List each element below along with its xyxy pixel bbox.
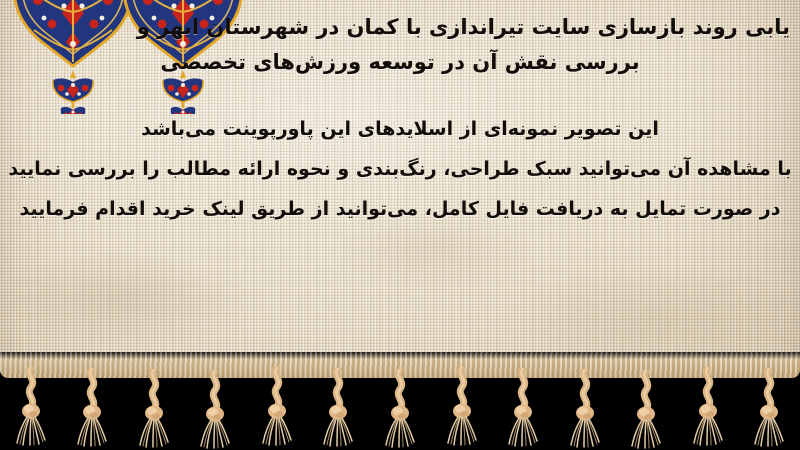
body-text-line-2: با مشاهده آن می‌توانید سبک طراحی، رنگ‌بن…	[0, 160, 800, 179]
body-text-line-3: در صورت تمایل به دریافت فایل کامل، می‌تو…	[0, 200, 800, 219]
fringe-tassel	[258, 367, 296, 447]
fringe-tassel	[689, 367, 727, 447]
slide-title-line-1: یابی روند بازسازی سایت تیراندازی با کمان…	[137, 17, 790, 38]
fringe-tassel	[566, 369, 604, 449]
fringe-tassel	[319, 368, 357, 448]
carpet-fringe-region	[0, 352, 800, 450]
fringe-tassel	[381, 369, 419, 449]
fringe-tassel	[196, 370, 234, 450]
fringe-tassel	[135, 369, 173, 449]
fringe-tassel	[73, 368, 111, 448]
fringe-tassel	[627, 370, 665, 450]
fringe-tassel	[12, 367, 50, 447]
fringe-tassel	[504, 368, 542, 448]
slide-canvas: یابی روند بازسازی سایت تیراندازی با کمان…	[0, 0, 800, 450]
fringe-tassel	[750, 368, 788, 448]
slide-title-line-2: بررسی نقش آن در توسعه ورزش‌های تخصصی	[0, 52, 800, 73]
body-text-line-1: این تصویر نمونه‌ای از اسلایدهای این پاور…	[0, 120, 800, 139]
fringe-tassel	[443, 367, 481, 447]
